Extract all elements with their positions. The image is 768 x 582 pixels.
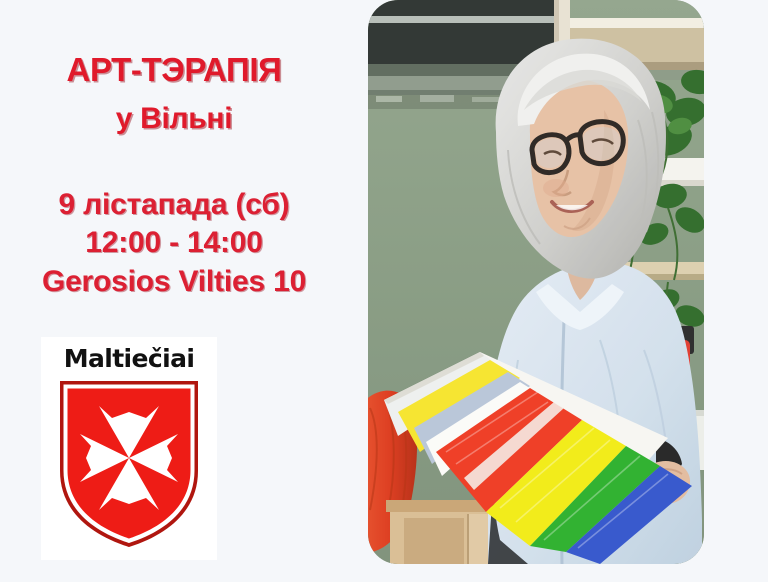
event-details: 9 лістапада (сб) 12:00 - 14:00 Gerosios … xyxy=(0,186,348,301)
logo-wordmark: Maltiečiai xyxy=(41,344,217,373)
maltese-cross-shield-icon xyxy=(58,379,200,549)
event-photo xyxy=(368,0,704,564)
event-date: 9 лістапада (сб) xyxy=(0,186,348,224)
logo-block: Maltiečiai xyxy=(41,337,217,560)
page-subtitle: у Вільні xyxy=(0,103,348,135)
event-time: 12:00 - 14:00 xyxy=(0,224,348,262)
poster-canvas: АРТ-ТЭРАПІЯ у Вільні 9 лістапада (сб) 12… xyxy=(0,0,768,582)
event-address: Gerosios Vilties 10 xyxy=(0,263,348,301)
text-column: АРТ-ТЭРАПІЯ у Вільні 9 лістапада (сб) 12… xyxy=(0,0,360,582)
page-title: АРТ-ТЭРАПІЯ xyxy=(0,52,348,88)
